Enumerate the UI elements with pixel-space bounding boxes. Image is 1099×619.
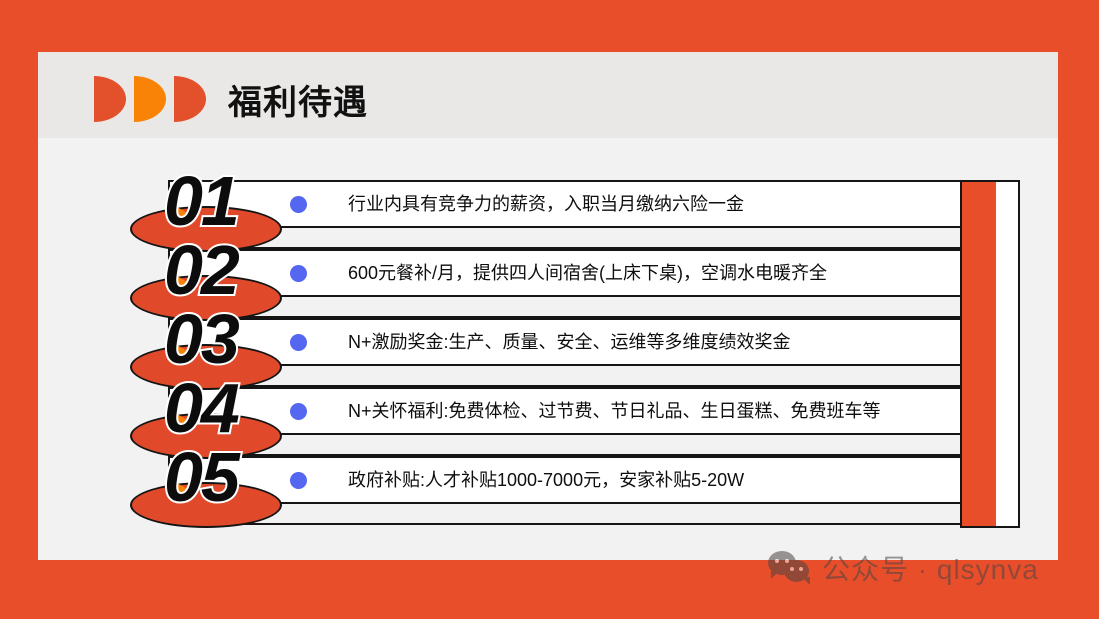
wechat-tail-back [771, 570, 780, 579]
right-accent-bar-fill [962, 182, 996, 526]
row-spacer [168, 435, 970, 456]
list-item[interactable]: 05 政府补贴:人才补贴1000-7000元，安家补贴5-20W [130, 456, 970, 525]
item-text: N+激励奖金:生产、质量、安全、运维等多维度绩效奖金 [348, 318, 791, 366]
list-item[interactable]: 04 N+关怀福利:免费体检、过节费、节日礼品、生日蛋糕、免费班车等 [130, 387, 970, 456]
half-circle-1-icon [94, 76, 126, 122]
half-circle-3-icon [174, 76, 206, 122]
item-number: 02 [164, 233, 238, 307]
wechat-eye-3 [790, 567, 794, 571]
list-item[interactable]: 01 行业内具有竞争力的薪资，入职当月缴纳六险一金 [130, 180, 970, 249]
wechat-eye-4 [799, 567, 803, 571]
page-title: 福利待遇 [228, 75, 368, 124]
item-number: 03 [164, 302, 238, 376]
right-accent-bar [960, 180, 1020, 528]
slide-header: 福利待遇 [94, 76, 368, 122]
watermark: 公众号 · qlsynva [768, 548, 1039, 588]
wechat-icon [768, 551, 814, 585]
item-text: 600元餐补/月，提供四人间宿舍(上床下桌)，空调水电暖齐全 [348, 249, 827, 297]
row-spacer [168, 228, 970, 249]
item-text: N+关怀福利:免费体检、过节费、节日礼品、生日蛋糕、免费班车等 [348, 387, 881, 435]
list-item[interactable]: 02 600元餐补/月，提供四人间宿舍(上床下桌)，空调水电暖齐全 [130, 249, 970, 318]
wechat-eye-1 [775, 559, 779, 563]
item-text: 行业内具有竞争力的薪资，入职当月缴纳六险一金 [348, 180, 744, 228]
watermark-text: 公众号 · qlsynva [822, 548, 1039, 588]
bullet-dot-icon [290, 334, 307, 351]
slide-canvas: 福利待遇 01 行业内具有竞争力的薪资，入职当月缴纳六险一金 02 600 [0, 0, 1099, 619]
half-circle-2-icon [134, 76, 166, 122]
wechat-tail-front [802, 577, 810, 585]
row-spacer [168, 297, 970, 318]
item-number: 05 [164, 440, 238, 514]
item-text: 政府补贴:人才补贴1000-7000元，安家补贴5-20W [348, 456, 744, 504]
row-spacer [168, 504, 970, 525]
content-panel: 福利待遇 01 行业内具有竞争力的薪资，入职当月缴纳六险一金 02 600 [38, 52, 1058, 560]
bullet-dot-icon [290, 472, 307, 489]
header-band: 福利待遇 [38, 52, 1058, 138]
bullet-dot-icon [290, 403, 307, 420]
benefits-list: 01 行业内具有竞争力的薪资，入职当月缴纳六险一金 02 600元餐补/月，提供… [130, 180, 970, 525]
row-spacer [168, 366, 970, 387]
item-number: 04 [164, 371, 238, 445]
bullet-dot-icon [290, 196, 307, 213]
item-number: 01 [164, 164, 238, 238]
list-item[interactable]: 03 N+激励奖金:生产、质量、安全、运维等多维度绩效奖金 [130, 318, 970, 387]
wechat-eye-2 [785, 559, 789, 563]
bullet-dot-icon [290, 265, 307, 282]
